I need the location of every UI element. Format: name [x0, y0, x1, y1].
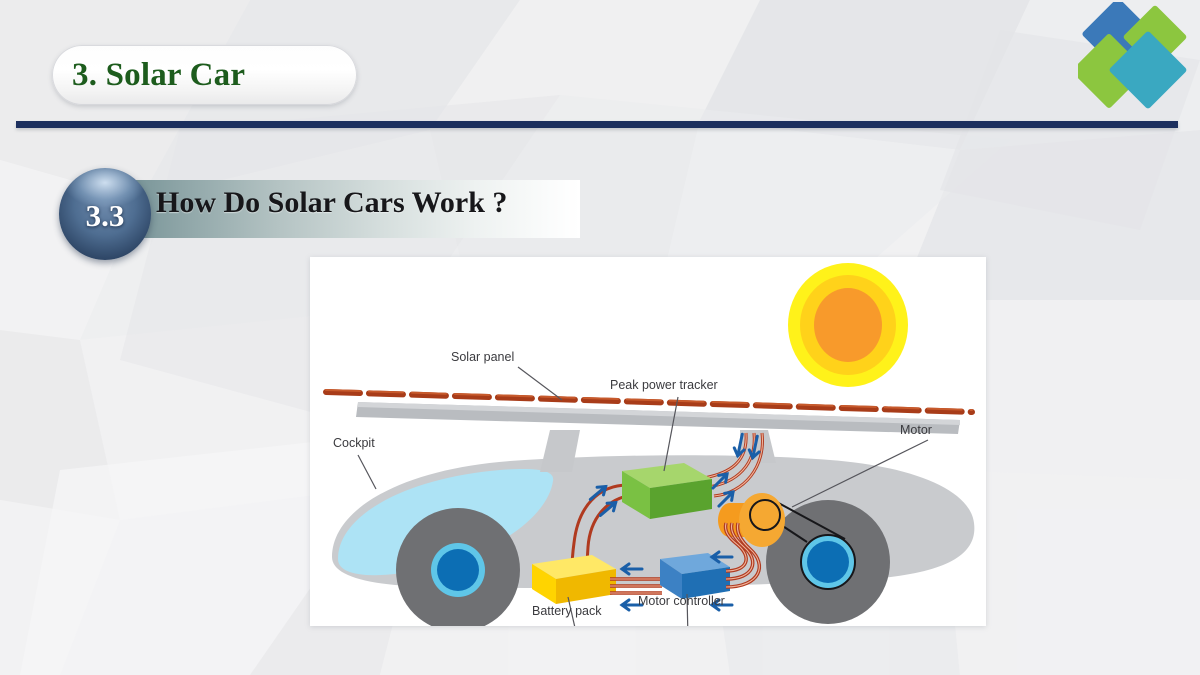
- label-motor: Motor: [900, 423, 932, 437]
- section-number-label: 3.3: [86, 198, 125, 234]
- sun-icon: [788, 263, 908, 387]
- header-divider: [16, 121, 1178, 128]
- label-solar-panel: Solar panel: [451, 350, 514, 364]
- page-title: 3. Solar Car: [72, 57, 245, 94]
- page-title-pill: 3. Solar Car: [52, 45, 357, 105]
- label-battery-pack: Battery pack: [532, 604, 602, 618]
- slide-root: 3. Solar Car 3.3 How Do Solar Cars Work …: [0, 0, 1200, 675]
- diagram-image-panel: Solar panel Peak power tracker Cockpit M…: [310, 257, 986, 626]
- label-motor-controller: Motor controller: [638, 594, 725, 608]
- label-cockpit: Cockpit: [333, 436, 375, 450]
- section-heading: How Do Solar Cars Work ?: [156, 186, 507, 220]
- solar-car-diagram: Solar panel Peak power tracker Cockpit M…: [310, 257, 986, 626]
- label-peak-power-tracker: Peak power tracker: [610, 378, 718, 392]
- four-squares-logo: [1078, 2, 1196, 112]
- section-number-badge: 3.3: [59, 168, 151, 260]
